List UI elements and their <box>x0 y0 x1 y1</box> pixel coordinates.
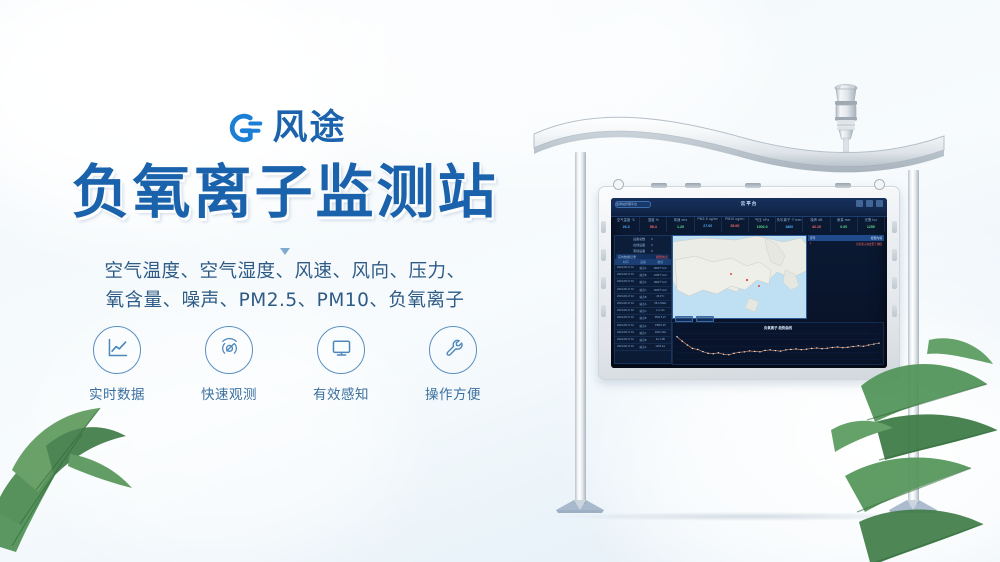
support-post-left <box>575 152 586 504</box>
table-cell: 站点B <box>634 316 651 320</box>
ground-shadow <box>560 512 942 521</box>
metric-label: 气压 hPa <box>749 217 775 222</box>
table-cell: 站点C <box>634 331 651 335</box>
feature-label: 快速观测 <box>190 383 268 403</box>
metric-cell: 气压 hPa1002.0 <box>749 217 776 232</box>
table-cell: 2023-08-17 10:21:10 <box>617 345 634 349</box>
monitor-screen-icon <box>329 335 354 365</box>
mount-tab <box>685 183 701 188</box>
cloud-platform-dashboard: 监测站管理平台 云平台 空气温度 ℃26.3湿度 %58.4风速 m/s1.20… <box>611 198 887 368</box>
table-cell: 站点A <box>634 280 651 284</box>
metric-cell: 噪声 dB42.10 <box>803 217 830 232</box>
subtitle-line-2: 氧含量、噪声、PM2.5、PM10、负氧离子 <box>0 287 570 316</box>
table-cell: 站点B <box>634 338 651 342</box>
table-row[interactable]: 2023-08-17 10:21:10站点A1250 lux <box>615 344 671 351</box>
metric-label: 噪声 dB <box>803 217 829 222</box>
feature-item-effective-sensing[interactable]: 有效感知 <box>302 326 380 403</box>
summary-value: 3 <box>651 243 653 247</box>
table-cell: 站点A <box>634 324 651 328</box>
table-cell: 1.2 m/s <box>652 309 669 313</box>
table-cell: 站点B <box>634 273 651 277</box>
radar-signal-icon <box>217 335 242 365</box>
metric-cell: 风速 m/s1.20 <box>667 217 694 232</box>
table-cell: 2023-08-17 10:32:10 <box>617 266 634 270</box>
mount-tab <box>651 183 667 188</box>
subtitle-line-1: 空气温度、空气湿度、风速、风向、压力、 <box>0 258 570 287</box>
alarm-col-index: 序号 <box>810 236 816 240</box>
summary-value: 3 <box>651 237 653 241</box>
wavy-canopy-roof-icon <box>530 98 950 188</box>
feature-icon-circle <box>317 326 365 374</box>
metric-value: 35.00 <box>722 224 748 228</box>
subtitle-block: 空气温度、空气湿度、风速、风向、压力、 氧含量、噪声、PM2.5、PM10、负氧… <box>0 258 570 315</box>
table-cell: 2023-08-17 10:23:10 <box>617 331 634 335</box>
table-cell: 站点B <box>634 295 651 299</box>
table-cell: 站点C <box>634 288 651 292</box>
chart-controls[interactable] <box>675 316 714 322</box>
table-cell: 2023-08-17 10:25:10 <box>617 316 634 320</box>
table-row[interactable]: 2023-08-17 10:29:10站点C1650个/cm³ <box>615 287 671 294</box>
metric-value: 27.00 <box>695 224 721 228</box>
dashboard-screen[interactable]: 监测站管理平台 云平台 空气温度 ℃26.3湿度 %58.4风速 m/s1.20… <box>611 198 887 368</box>
header-icon[interactable] <box>876 200 883 207</box>
summary-key: 在线设备 <box>633 243 645 247</box>
page-title: 负氧离子监测站 <box>0 160 570 225</box>
feature-item-easy-operation[interactable]: 操作方便 <box>414 326 492 403</box>
base-plate-right-icon <box>885 496 941 514</box>
metric-value: 1.20 <box>667 225 693 229</box>
table-cell: 1784个/cm³ <box>652 273 669 277</box>
summary-row: 在线设备3 <box>633 243 653 247</box>
table-cell: 58.4 %RH <box>652 302 669 306</box>
mount-tab <box>835 183 851 188</box>
table-row[interactable]: 2023-08-17 10:28:10站点B26.3℃ <box>615 294 671 301</box>
list-column-header: 设备 <box>634 260 651 264</box>
title-divider <box>0 246 570 256</box>
vent-slot <box>892 277 897 289</box>
summary-row: 设备总数3 <box>633 237 653 241</box>
alarm-row-content: 负氧离子浓度低于阈值 <box>856 242 882 246</box>
header-icon[interactable] <box>856 200 863 207</box>
alarm-col-content: 报警内容 <box>871 236 882 240</box>
list-column-header: 数值 <box>652 260 669 264</box>
vent-slot <box>601 277 606 289</box>
table-cell: 站点C <box>634 309 651 313</box>
china-map[interactable] <box>672 235 807 319</box>
vent-slot <box>601 221 606 233</box>
list-rows-container: 2023-08-17 10:32:10站点A1860个/cm³2023-08-1… <box>615 265 671 351</box>
alarm-row-index: 1 <box>810 242 811 246</box>
feature-label: 操作方便 <box>414 383 492 403</box>
table-cell: 1650个/cm³ <box>652 288 669 292</box>
trend-chart-svg <box>673 330 883 364</box>
table-cell: 1002 hPa <box>652 331 669 335</box>
metric-label: 雨量 mm <box>831 217 857 222</box>
trend-chart: 负氧离子 趋势曲线 <box>672 322 884 365</box>
feature-icon-circle <box>93 326 141 374</box>
mount-tab <box>745 183 761 188</box>
summary-key: 离线设备 <box>633 249 645 253</box>
vent-slot <box>892 221 897 233</box>
metric-cell: 负氧离子 个/cm³1860 <box>776 217 803 232</box>
ultrasonic-weather-sensor-icon <box>823 82 869 154</box>
mount-hook-left <box>613 179 624 190</box>
monitoring-station-illustration: 监测站管理平台 云平台 空气温度 ℃26.3湿度 %58.4风速 m/s1.20… <box>530 60 970 530</box>
table-row[interactable]: 2023-08-17 10:32:10站点A1860个/cm³ <box>615 265 671 272</box>
metric-cell: PM2.5 ug/m³27.00 <box>695 217 722 232</box>
mount-hook-right <box>874 179 885 190</box>
metric-label: 空气温度 ℃ <box>613 217 639 222</box>
table-cell: 站点A <box>634 302 651 306</box>
header-icon[interactable] <box>866 200 873 207</box>
table-cell: 2023-08-17 10:24:10 <box>617 324 634 328</box>
table-row[interactable]: 2023-08-17 10:31:10站点B1784个/cm³ <box>615 272 671 279</box>
table-cell: 42.1 dB <box>652 338 669 342</box>
table-cell: 1250 lux <box>652 345 669 349</box>
table-cell: 2023-08-17 10:22:10 <box>617 338 634 342</box>
metric-cell: 湿度 %58.4 <box>640 217 667 232</box>
metric-label: 湿度 % <box>640 217 666 222</box>
dashboard-title: 云平台 <box>611 201 887 207</box>
table-cell: 站点A <box>634 266 651 270</box>
table-cell: PM2.5 27 <box>652 316 669 320</box>
table-row[interactable]: 2023-08-17 10:25:10站点BPM2.5 27 <box>615 315 671 322</box>
table-cell: PM10 35 <box>652 324 669 328</box>
table-cell: 1860个/cm³ <box>652 266 669 270</box>
metric-value: 1860 <box>776 225 802 229</box>
metric-value: 42.10 <box>803 225 829 229</box>
vent-slot <box>892 305 897 317</box>
summary-row: 离线设备0 <box>633 249 653 253</box>
feature-icon-circle <box>205 326 253 374</box>
metric-value: 0.00 <box>831 225 857 229</box>
table-row[interactable]: 2023-08-17 10:23:10站点C1002 hPa <box>615 330 671 337</box>
table-cell: 2023-08-17 10:30:10 <box>617 280 634 284</box>
vent-slot <box>601 305 606 317</box>
summary-key: 设备总数 <box>633 237 645 241</box>
support-post-right <box>908 170 919 504</box>
table-cell: 站点A <box>634 345 651 349</box>
table-cell: 2023-08-17 10:28:10 <box>617 295 634 299</box>
metric-label: PM10 ug/m³ <box>722 217 748 221</box>
alarm-panel: 序号 报警内容 1 负氧离子浓度低于阈值 <box>808 235 884 257</box>
metric-cell: 光照 lux1250 <box>858 217 885 232</box>
table-cell: 1802个/cm³ <box>652 280 669 284</box>
feature-item-realtime-data[interactable]: 实时数据 <box>78 326 156 403</box>
alarm-row: 1 负氧离子浓度低于阈值 <box>808 241 884 247</box>
dashboard-side-list: 设备总数3在线设备3离线设备0 实时数据记录 报警信息 时间设备数值 2023-… <box>614 235 672 364</box>
base-plate-left-icon <box>552 496 608 514</box>
chart-select-device[interactable] <box>675 316 693 322</box>
brand-logo: 风途 <box>0 108 570 148</box>
metric-value: 1250 <box>858 225 884 229</box>
table-cell: 2023-08-17 10:29:10 <box>617 288 634 292</box>
wrench-icon <box>441 335 466 365</box>
side-list-alarm-text: 报警信息 <box>656 255 668 259</box>
metric-label: 负氧离子 个/cm³ <box>776 217 802 222</box>
metric-cell: 空气温度 ℃26.3 <box>613 217 640 232</box>
dashboard-header-icons[interactable] <box>856 200 883 207</box>
feature-icon-circle <box>429 326 477 374</box>
table-cell: 2023-08-17 10:31:10 <box>617 273 634 277</box>
feature-item-fast-observation[interactable]: 快速观测 <box>190 326 268 403</box>
table-row[interactable]: 2023-08-17 10:26:10站点C1.2 m/s <box>615 308 671 315</box>
table-row[interactable]: 2023-08-17 10:30:10站点A1802个/cm³ <box>615 279 671 286</box>
feature-label: 实时数据 <box>78 383 156 403</box>
poster-canvas: 风途 负氧离子监测站 空气温度、空气湿度、风速、风向、压力、 氧含量、噪声、PM… <box>0 0 1000 562</box>
brand-name: 风途 <box>272 111 346 146</box>
feature-list: 实时数据 快速观测 <box>0 326 570 403</box>
vent-slot <box>601 249 606 261</box>
list-column-header: 时间 <box>617 260 634 264</box>
metric-value: 1002.0 <box>749 225 775 229</box>
line-chart-icon <box>105 335 130 365</box>
table-row[interactable]: 2023-08-17 10:22:10站点B42.1 dB <box>615 337 671 344</box>
feature-label: 有效感知 <box>302 383 380 403</box>
metric-cell: PM10 ug/m³35.00 <box>722 217 749 232</box>
table-row[interactable]: 2023-08-17 10:24:10站点APM10 35 <box>615 323 671 330</box>
text-content-panel: 风途 负氧离子监测站 空气温度、空气湿度、风速、风向、压力、 氧含量、噪声、PM… <box>0 0 570 562</box>
metric-value: 26.3 <box>613 225 639 229</box>
summary-value: 0 <box>651 249 653 253</box>
metric-label: 光照 lux <box>858 217 884 222</box>
metric-label: 风速 m/s <box>667 217 693 222</box>
device-summary: 设备总数3在线设备3离线设备0 <box>615 236 671 252</box>
metric-value: 58.4 <box>640 225 666 229</box>
chart-select-range[interactable] <box>696 316 714 322</box>
fengtu-g-wind-logo-icon <box>223 108 263 148</box>
side-list-title-text: 实时数据记录 <box>618 255 636 259</box>
table-cell: 2023-08-17 10:26:10 <box>617 309 634 313</box>
display-cabinet: 监测站管理平台 云平台 空气温度 ℃26.3湿度 %58.4风速 m/s1.20… <box>598 186 900 380</box>
vent-slot <box>892 249 897 261</box>
metric-strip: 空气温度 ℃26.3湿度 %58.4风速 m/s1.20PM2.5 ug/m³2… <box>613 217 885 232</box>
table-cell: 2023-08-17 10:27:10 <box>617 302 634 306</box>
table-row[interactable]: 2023-08-17 10:27:10站点A58.4 %RH <box>615 301 671 308</box>
metric-cell: 雨量 mm0.00 <box>831 217 858 232</box>
metric-label: PM2.5 ug/m³ <box>695 217 721 221</box>
table-cell: 26.3℃ <box>652 295 669 299</box>
